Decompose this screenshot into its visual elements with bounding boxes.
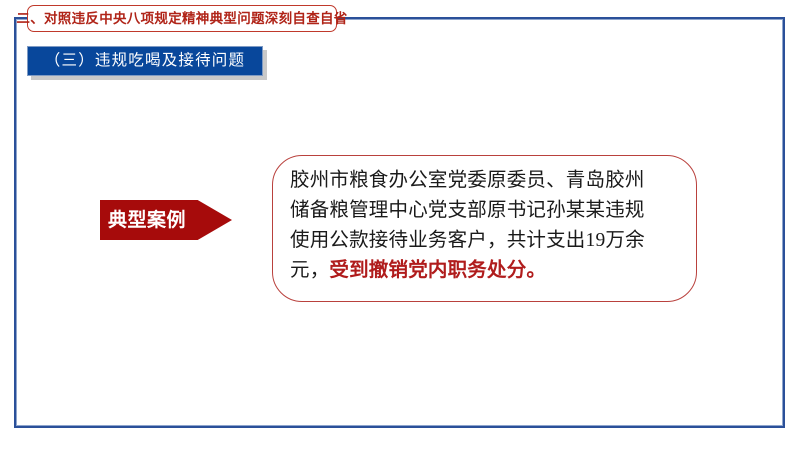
subsection-title-box: （三）违规吃喝及接待问题 <box>27 46 263 76</box>
case-label-text: 典型案例 <box>100 211 186 230</box>
case-content-box: 胶州市粮食办公室党委原委员、青岛胶州 储备粮管理中心党支部原书记孙某某违规 使用… <box>272 155 697 302</box>
section-title-badge: 二、对照违反中央八项规定精神典型问题深刻自查自省 <box>27 5 337 32</box>
case-text-line-2: 储备粮管理中心党支部原书记孙某某违规 <box>290 196 682 226</box>
section-title-text: 二、对照违反中央八项规定精神典型问题深刻自查自省 <box>16 12 347 26</box>
case-text-line-4: 元，受到撤销党内职务处分。 <box>290 256 682 286</box>
case-text-emphasis: 受到撤销党内职务处分。 <box>329 260 546 281</box>
subsection-title-text: （三）违规吃喝及接待问题 <box>45 53 245 69</box>
slide-canvas: 二、对照违反中央八项规定精神典型问题深刻自查自省 （三）违规吃喝及接待问题 典型… <box>0 0 800 450</box>
case-content-text: 胶州市粮食办公室党委原委员、青岛胶州 储备粮管理中心党支部原书记孙某某违规 使用… <box>290 166 682 286</box>
case-text-line-4-plain: 元， <box>290 260 329 281</box>
case-text-line-1: 胶州市粮食办公室党委原委员、青岛胶州 <box>290 166 682 196</box>
case-text-line-3: 使用公款接待业务客户，共计支出19万余 <box>290 226 682 256</box>
